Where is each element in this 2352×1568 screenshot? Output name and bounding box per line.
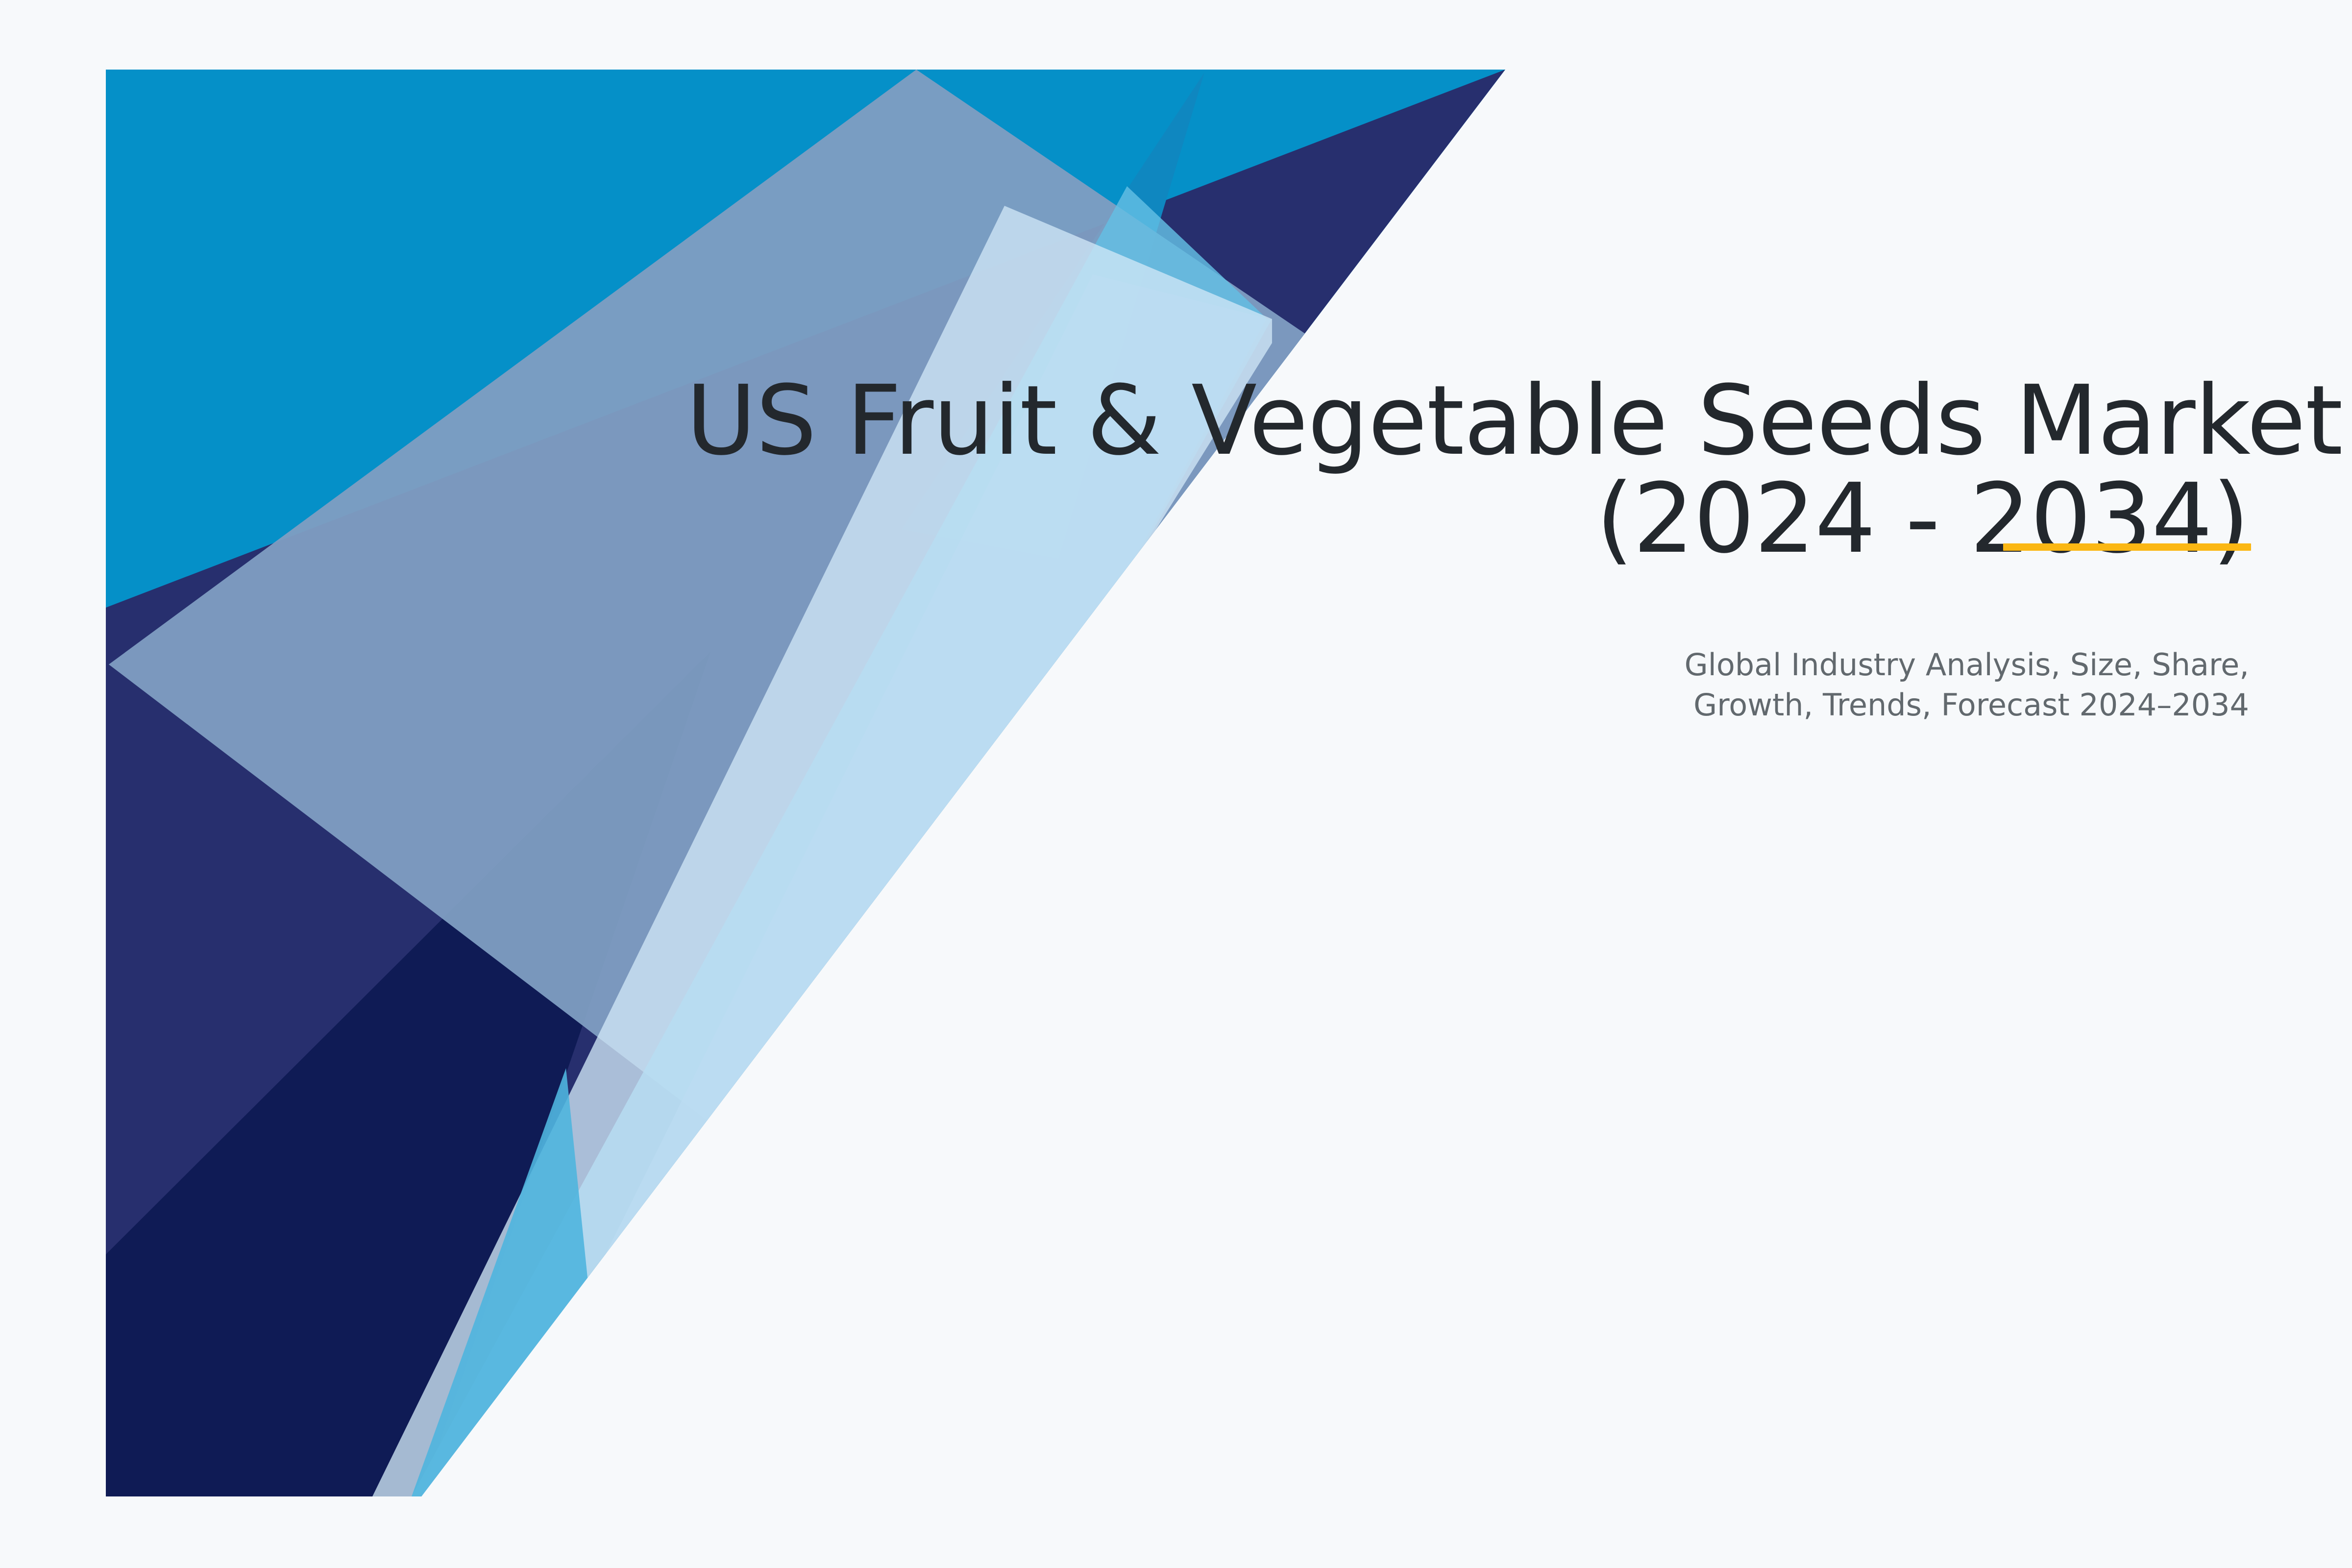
page-subtitle: Global Industry Analysis, Size, Share, G… [1274, 645, 2249, 725]
title-line-2: (2024 - 2034) [1596, 470, 2249, 568]
title-line-1: US Fruit & Vegetable Seeds Market [686, 372, 2249, 470]
title-line-2-text: (2024 - 2034) [1596, 463, 2249, 575]
subtitle-line-2: Growth, Trends, Forecast 2024–2034 [1274, 685, 2249, 725]
subtitle-line-1: Global Industry Analysis, Size, Share, [1274, 645, 2249, 685]
abstract-polygon-artwork [0, 0, 2352, 1568]
presentation-slide: US Fruit & Vegetable Seeds Market (2024 … [0, 0, 2352, 1568]
page-title: US Fruit & Vegetable Seeds Market (2024 … [686, 372, 2249, 568]
